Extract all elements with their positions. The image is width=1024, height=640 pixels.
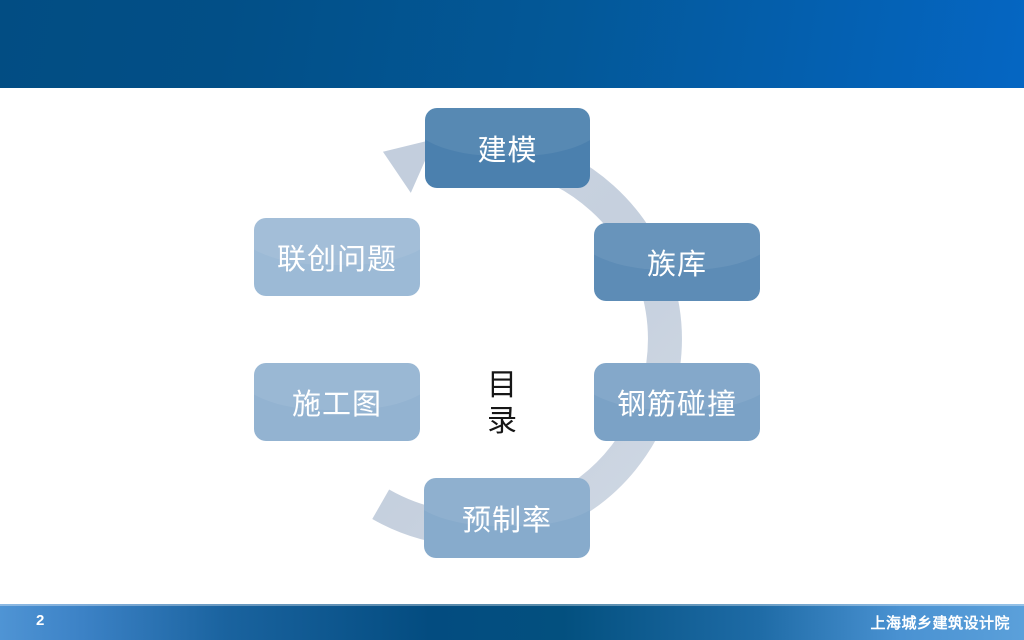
- cycle-node-label: 建模: [477, 127, 537, 169]
- footer-bar: 2 上海城乡建筑设计院: [0, 604, 1024, 640]
- center-label-line-1: 目: [462, 368, 542, 404]
- footer-divider: [0, 604, 1024, 606]
- cycle-node-label: 预制率: [462, 497, 552, 539]
- cycle-node-shigongtu[interactable]: 施工图: [254, 363, 420, 441]
- cycle-diagram: 目 录 建模 族库 钢筋碰撞 预制率 施工图 联创问题: [0, 88, 1024, 604]
- cycle-node-lianchuangwenti[interactable]: 联创问题: [254, 218, 420, 296]
- cycle-node-jianmo[interactable]: 建模: [425, 108, 590, 188]
- cycle-node-label: 联创问题: [277, 236, 397, 278]
- cycle-node-yuzhilv[interactable]: 预制率: [424, 478, 590, 558]
- cycle-node-zuku[interactable]: 族库: [594, 223, 760, 301]
- cycle-node-gangjinpengzhuang[interactable]: 钢筋碰撞: [594, 363, 760, 441]
- page-number: 2: [36, 612, 45, 629]
- diagram-center-label: 目 录: [462, 368, 542, 440]
- cycle-node-label: 钢筋碰撞: [617, 381, 737, 423]
- cycle-node-label: 施工图: [292, 381, 382, 423]
- slide: 目 录 建模 族库 钢筋碰撞 预制率 施工图 联创问题: [0, 0, 1024, 640]
- center-label-line-2: 录: [462, 404, 542, 440]
- cycle-node-label: 族库: [647, 241, 707, 283]
- organization-name: 上海城乡建筑设计院: [870, 612, 1010, 633]
- header-bar: [0, 0, 1024, 88]
